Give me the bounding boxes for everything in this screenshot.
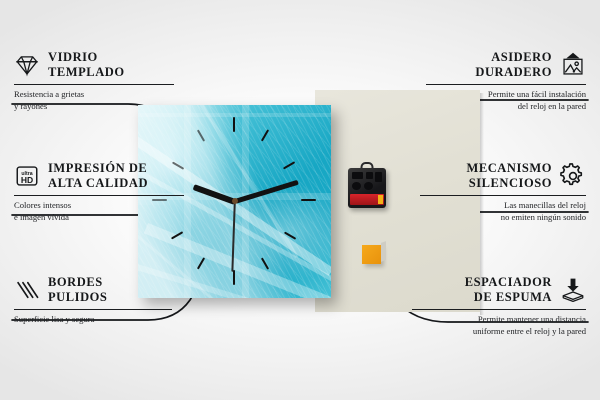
feature-title: VIDRIO xyxy=(48,50,125,65)
ultra-hd-icon: ultra HD xyxy=(14,163,40,189)
mechanism-body xyxy=(348,168,386,208)
hand-cap xyxy=(232,198,238,204)
quartz-mechanism xyxy=(348,168,386,208)
infographic-canvas: VIDRIO TEMPLADO Resistencia a grietas y … xyxy=(0,0,600,400)
feature-title-2: SILENCIOSO xyxy=(466,176,552,191)
gear-icon xyxy=(560,163,586,189)
feature-title-2: DE ESPUMA xyxy=(465,290,552,305)
feature-rule xyxy=(14,84,174,85)
feature-desc: Permite una fácil instalación xyxy=(426,89,586,101)
feature-title: BORDES xyxy=(48,275,107,290)
feature-desc-2: no emiten ningún sonido xyxy=(420,212,586,224)
feature-desc: Permite mantener una distancia xyxy=(412,314,586,326)
foam-spacer xyxy=(362,245,381,264)
svg-text:HD: HD xyxy=(21,175,33,185)
diamond-icon xyxy=(14,52,40,78)
feature-title-2: DURADERO xyxy=(475,65,552,80)
feature-desc: Superficie lisa y segura xyxy=(14,314,172,326)
feature-desc-2: uniforme entre el reloj y la pared xyxy=(412,326,586,338)
aa-battery xyxy=(350,194,384,205)
feature-title-2: TEMPLADO xyxy=(48,65,125,80)
feature-desc-2: y rayones xyxy=(14,101,174,113)
feature-vidrio-templado: VIDRIO TEMPLADO Resistencia a grietas y … xyxy=(14,50,174,112)
feature-desc: Resistencia a grietas xyxy=(14,89,174,101)
feature-rule xyxy=(14,309,172,310)
feature-impresion-alta-calidad: ultra HD IMPRESIÓN DE ALTA CALIDAD Color… xyxy=(14,161,184,223)
feature-rule xyxy=(412,309,586,310)
diagonal-lines-icon xyxy=(14,277,40,303)
feature-title: IMPRESIÓN DE xyxy=(48,161,148,176)
feature-rule xyxy=(426,84,586,85)
feature-desc-2: e imagen vívida xyxy=(14,212,184,224)
feature-title: MECANISMO xyxy=(466,161,552,176)
hanging-frame-icon xyxy=(560,52,586,78)
feature-rule xyxy=(14,195,184,196)
feature-title: ASIDERO xyxy=(475,50,552,65)
feature-mecanismo-silencioso: MECANISMO SILENCIOSO Las manecillas del … xyxy=(420,161,586,223)
feature-bordes-pulidos: BORDES PULIDOS Superficie lisa y segura xyxy=(14,275,172,326)
feature-desc-2: del reloj en la pared xyxy=(426,101,586,113)
arrow-layers-icon xyxy=(560,277,586,303)
feature-desc: Las manecillas del reloj xyxy=(420,200,586,212)
feature-title-2: PULIDOS xyxy=(48,290,107,305)
feature-asidero-duradero: ASIDERO DURADERO Permite una fácil insta… xyxy=(426,50,586,112)
feature-title: ESPACIADOR xyxy=(465,275,552,290)
feature-espaciador-espuma: ESPACIADOR DE ESPUMA Permite mantener un… xyxy=(412,275,586,337)
feature-desc: Colores intensos xyxy=(14,200,184,212)
feature-rule xyxy=(420,195,586,196)
feature-title-2: ALTA CALIDAD xyxy=(48,176,148,191)
